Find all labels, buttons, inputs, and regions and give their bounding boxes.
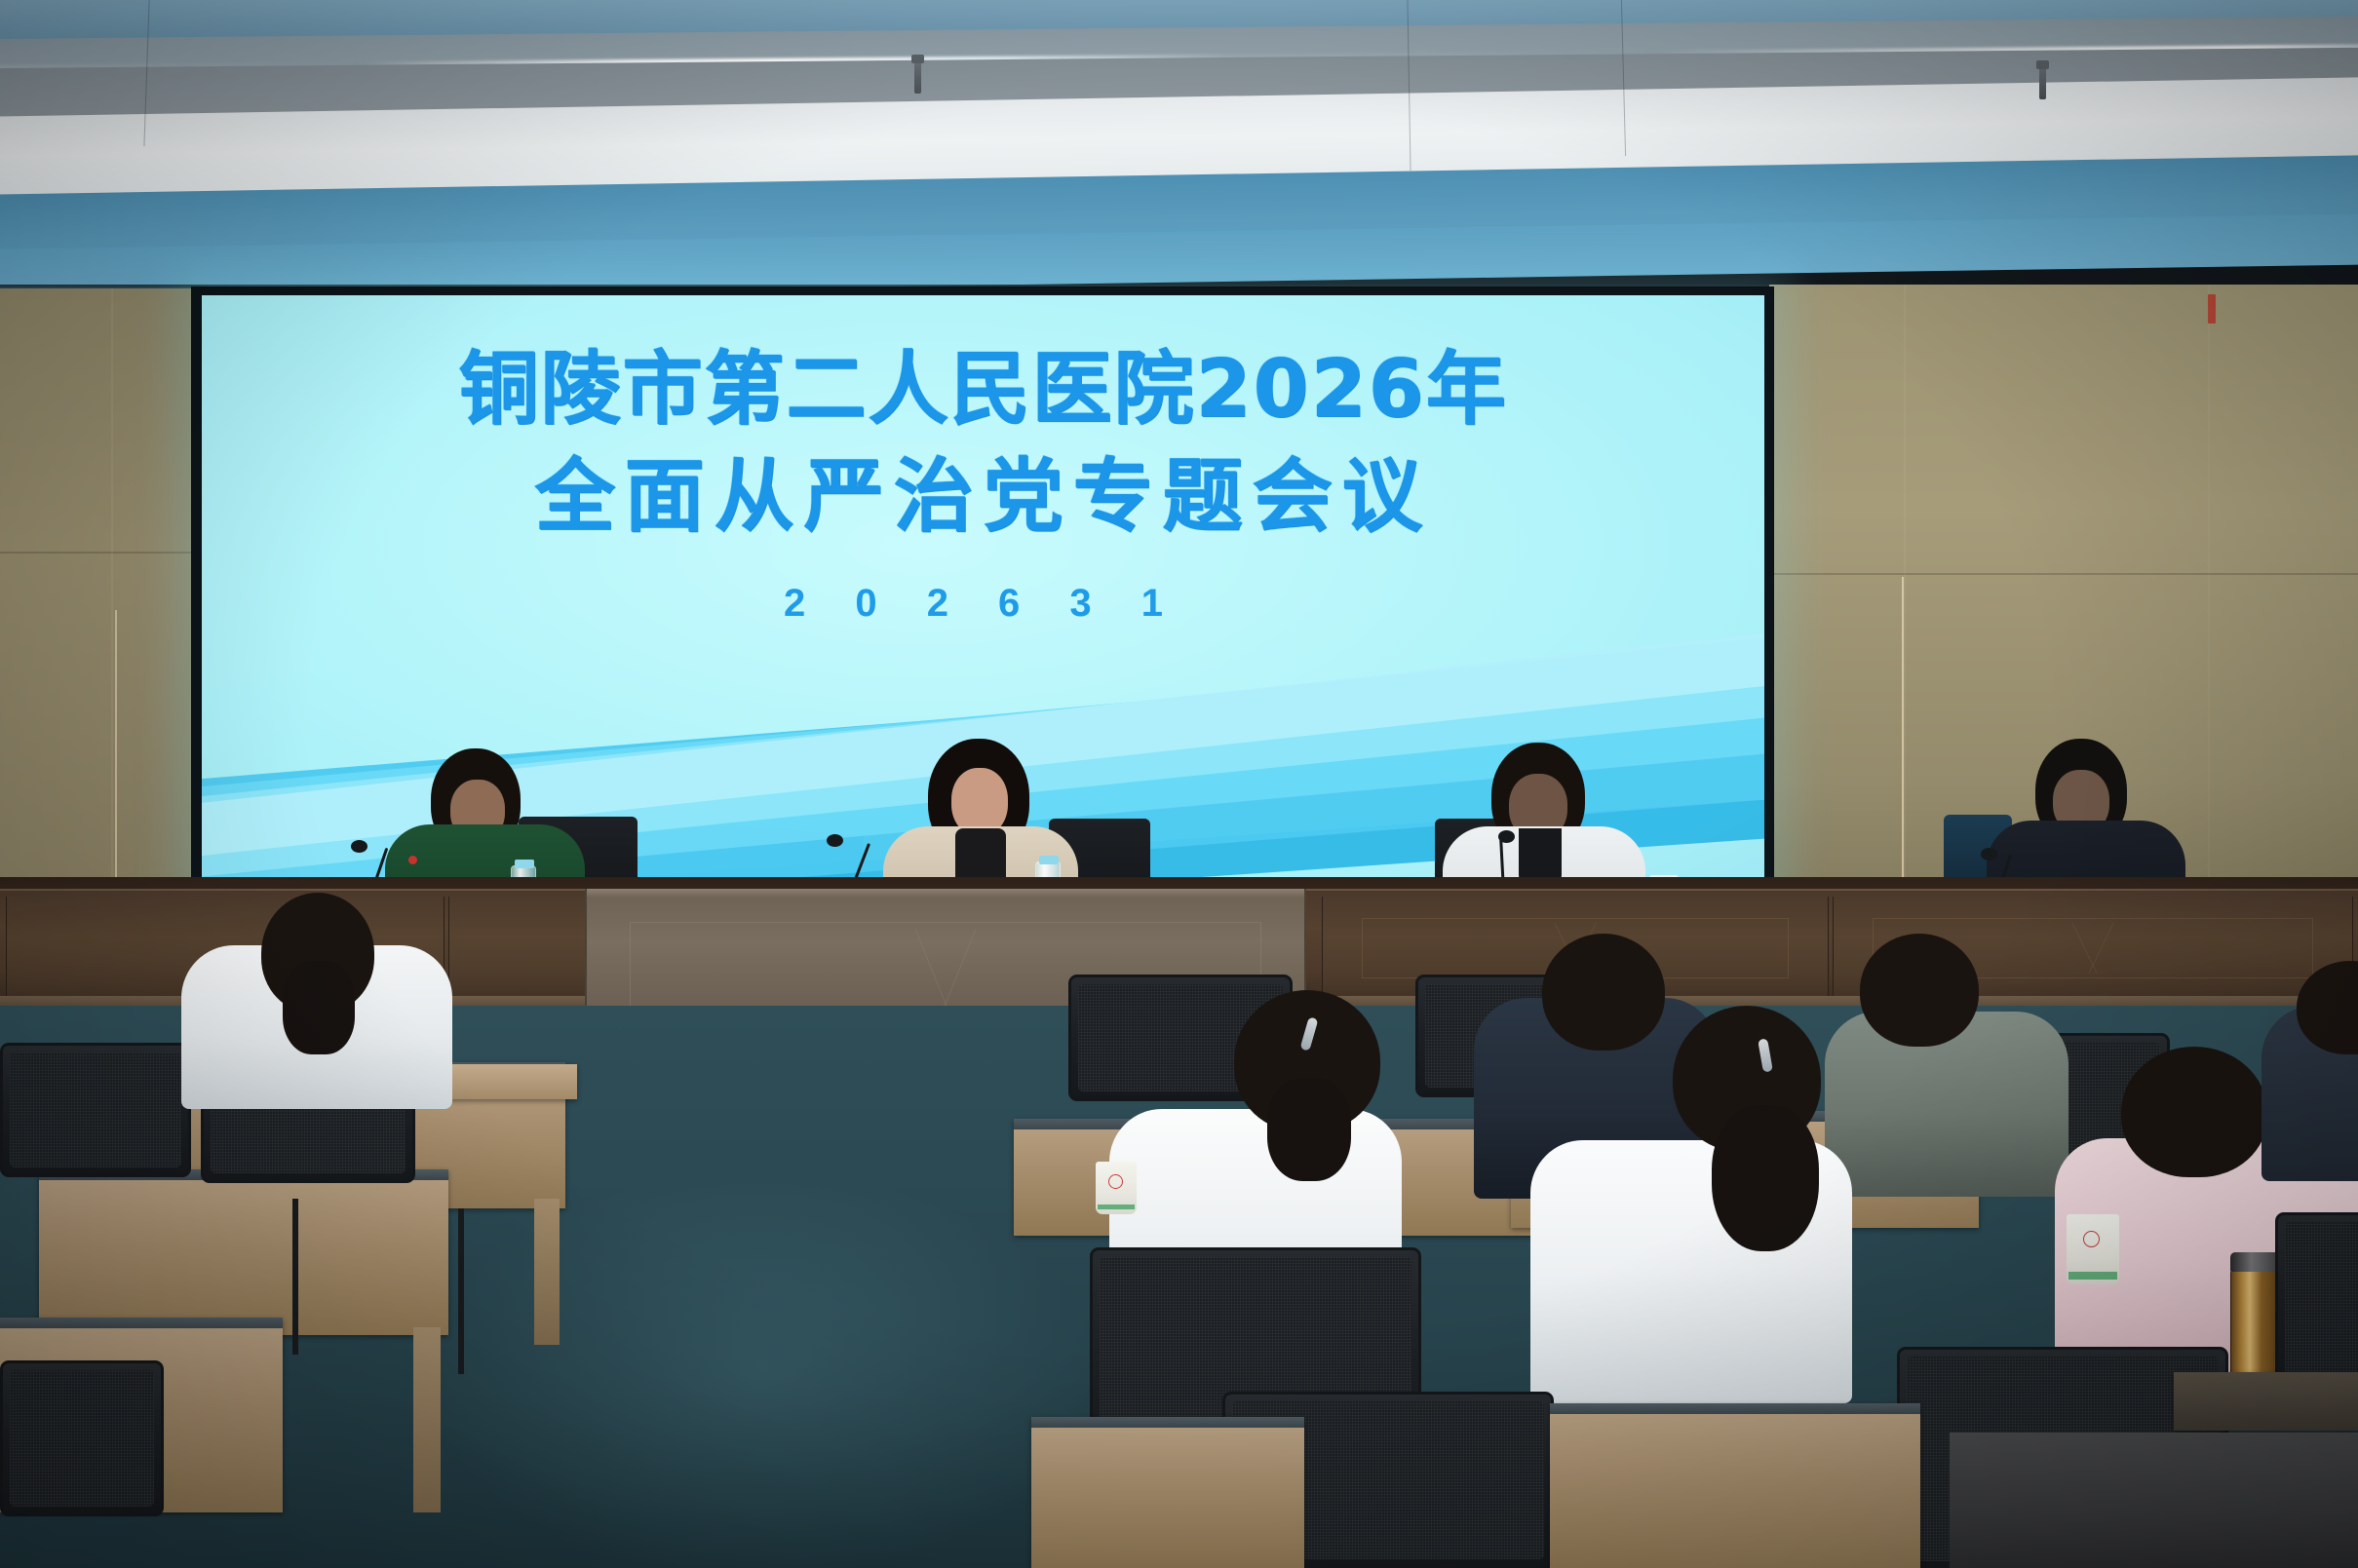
chair-mesh-panel xyxy=(2285,1222,2358,1397)
cup-band xyxy=(2068,1272,2117,1280)
cup-logo-icon xyxy=(1108,1174,1123,1189)
wall-left xyxy=(0,288,207,932)
chair-mesh-panel xyxy=(10,1370,154,1507)
screen-date-line: 2 0 2 6 3 1 xyxy=(784,582,1182,626)
paper-cup xyxy=(2067,1214,2119,1284)
podium-top-edge xyxy=(587,889,1304,898)
desk-top-surface xyxy=(0,1318,283,1328)
screen-title-line-1: 铜陵市第二人民医院2026年 xyxy=(458,336,1507,443)
wall-seam xyxy=(2208,285,2210,947)
microphone-head-icon xyxy=(827,834,843,847)
bottle-cap xyxy=(515,860,534,868)
paper-cup xyxy=(1096,1162,1137,1214)
wall-seam xyxy=(1769,573,2358,575)
desk-top-surface xyxy=(1031,1417,1304,1428)
chair-leg xyxy=(292,1199,298,1355)
audience-head xyxy=(1542,934,1665,1051)
microphone-head-icon xyxy=(351,840,367,853)
cup-band xyxy=(1098,1205,1135,1209)
chair-backrest xyxy=(0,1043,191,1177)
sprinkler-head-icon xyxy=(914,60,921,94)
sprinkler-head-icon xyxy=(2039,66,2046,99)
chair-mesh-panel xyxy=(10,1052,181,1167)
cup-logo-icon xyxy=(2083,1231,2100,1247)
wall-seam xyxy=(1904,285,1906,947)
audience-desk xyxy=(1031,1417,1304,1568)
party-badge-icon xyxy=(408,856,417,864)
desk-top-surface xyxy=(1550,1403,1920,1414)
conference-room-photo: 铜陵市第二人民医院2026年 全面从严治党专题会议 2 0 2 6 3 1 xyxy=(0,0,2358,1568)
audience-hair xyxy=(1267,1078,1351,1181)
microphone-head-icon xyxy=(1981,848,1997,860)
bottle-cap xyxy=(1039,856,1059,864)
audience-head xyxy=(1860,934,1979,1047)
audience-head xyxy=(2121,1047,2267,1177)
audience-desk-edge xyxy=(2174,1372,2358,1431)
microphone-head-icon xyxy=(1498,830,1515,843)
chair-backrest xyxy=(0,1360,164,1516)
wall-marker-icon xyxy=(2208,294,2216,324)
wall-seam xyxy=(111,288,113,932)
audience-desk xyxy=(39,1169,448,1335)
audience-desk xyxy=(1550,1403,1920,1568)
chair-leg xyxy=(458,1208,464,1374)
audience-hair-ponytail xyxy=(1712,1105,1819,1251)
foreground-chair-surface xyxy=(1950,1433,2358,1568)
floor-light-reflection xyxy=(419,1169,1102,1568)
audience-hair xyxy=(283,961,355,1054)
screen-title-line-2: 全面从严治党专题会议 xyxy=(534,443,1431,551)
desk-leg xyxy=(534,1199,560,1345)
wall-seam xyxy=(0,552,207,554)
desk-leg xyxy=(413,1327,441,1512)
